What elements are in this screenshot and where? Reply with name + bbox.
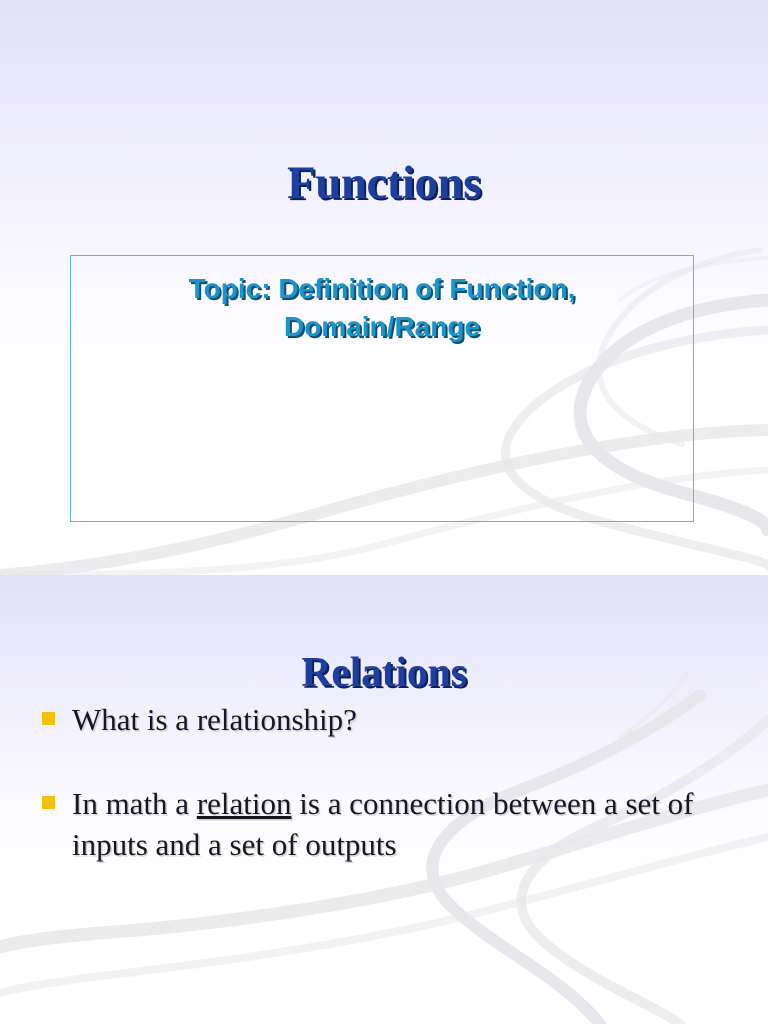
page-title: Functions bbox=[0, 159, 768, 208]
topic-line-2: Domain/Range bbox=[284, 311, 480, 342]
slide-functions: Functions Topic: Definition of Function,… bbox=[0, 0, 768, 575]
square-bullet-icon bbox=[42, 712, 55, 725]
bullet-prefix: What is a relationship? bbox=[72, 702, 357, 737]
bullet-prefix: In math a bbox=[72, 786, 197, 821]
slide-relations: Relations What is a relationship? In mat… bbox=[0, 575, 768, 1024]
slide-deck: Functions Topic: Definition of Function,… bbox=[0, 0, 768, 1024]
bullet-list: What is a relationship? In math a relati… bbox=[42, 700, 738, 865]
list-item-text: What is a relationship? bbox=[72, 700, 738, 740]
topic-box: Topic: Definition of Function, Domain/Ra… bbox=[70, 255, 694, 522]
bullet-emphasis: relation bbox=[197, 786, 292, 821]
square-bullet-icon bbox=[42, 796, 55, 809]
topic-line-1: Topic: Definition of Function, bbox=[189, 273, 576, 304]
topic-heading: Topic: Definition of Function, Domain/Ra… bbox=[71, 270, 693, 346]
list-item: What is a relationship? bbox=[42, 700, 738, 740]
page-title: Relations bbox=[0, 651, 768, 695]
list-item: In math a relation is a connection betwe… bbox=[42, 784, 738, 865]
list-item-text: In math a relation is a connection betwe… bbox=[72, 784, 738, 865]
